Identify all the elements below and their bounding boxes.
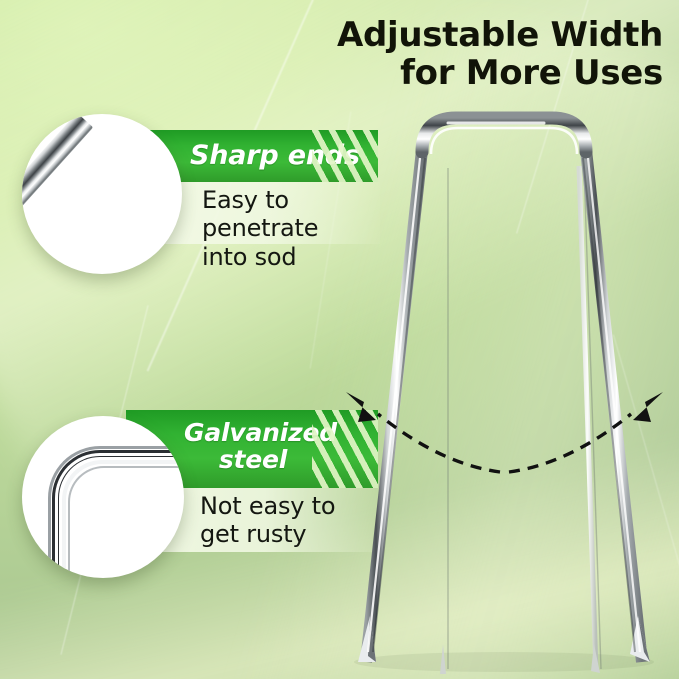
feature-banner-label: Galvanized bbox=[184, 418, 337, 447]
bent-rod-inner-edge bbox=[68, 466, 184, 578]
feature-inset-circle-galvanized-steel bbox=[22, 416, 184, 578]
dashed-arrow-right-icon bbox=[509, 392, 663, 472]
feature-banner-label: Sharp ends bbox=[190, 140, 360, 171]
dashed-arrow-left-icon bbox=[346, 392, 500, 472]
sharp-spike-icon bbox=[22, 114, 182, 274]
page-title-line-1: Adjustable Width bbox=[333, 16, 663, 54]
bent-rod-corner-icon bbox=[22, 416, 184, 578]
feature-inset-circle-sharp-ends bbox=[22, 114, 182, 274]
page-title: Adjustable Width for More Uses bbox=[333, 16, 663, 92]
page-title-line-2: for More Uses bbox=[333, 54, 663, 92]
product-feature-poster: Adjustable Width for More Uses Easy to p… bbox=[0, 0, 679, 679]
spike-rod-shaft bbox=[22, 114, 93, 252]
adjustable-width-arrows bbox=[330, 380, 679, 500]
